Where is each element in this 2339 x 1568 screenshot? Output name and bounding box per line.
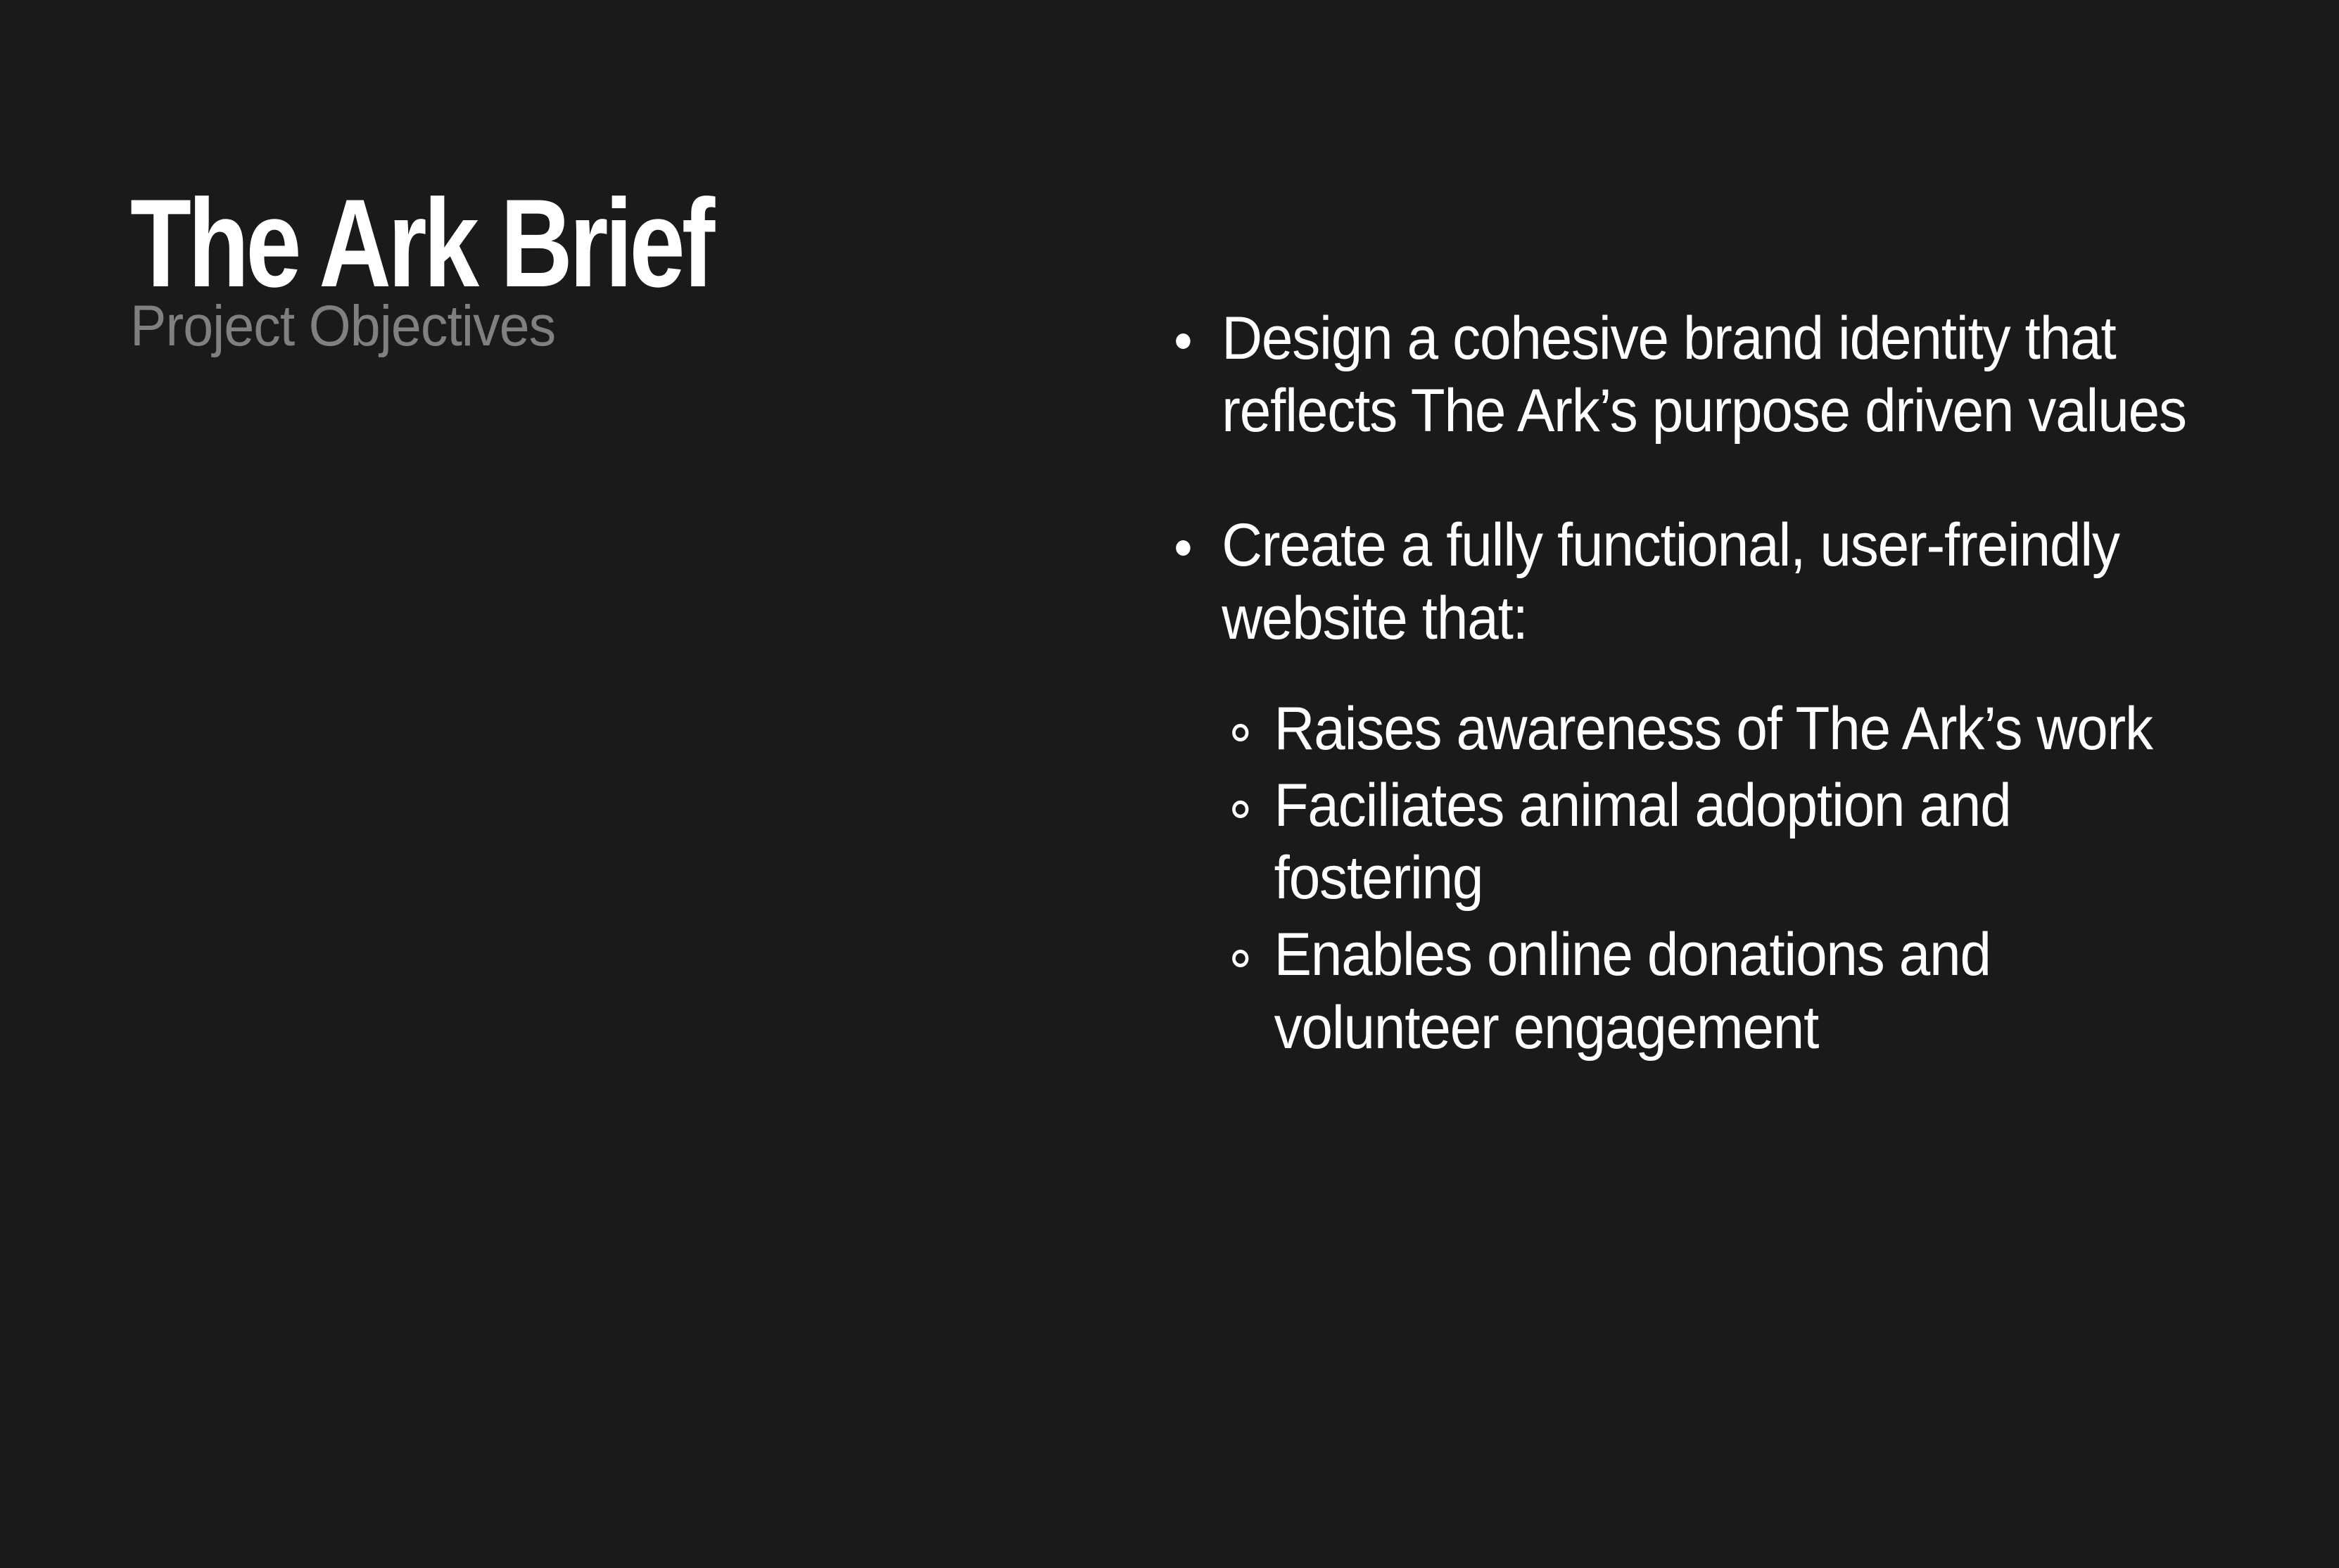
objectives-column: Design a cohesive brand identity that re… — [1168, 302, 2266, 1064]
list-item: Enables online donations and volunteer e… — [1227, 919, 2189, 1064]
list-item: Faciliates animal adoption and fostering — [1227, 770, 2189, 914]
list-item-text: Create a fully functional, user-freindly… — [1222, 511, 2119, 651]
disc-bullet-icon — [1176, 540, 1190, 556]
objectives-list: Design a cohesive brand identity that re… — [1168, 302, 2266, 1064]
section-label: Project Objectives — [130, 298, 555, 355]
list-item-text: Design a cohesive brand identity that re… — [1222, 305, 2186, 445]
list-item-text: Enables online donations and volunteer e… — [1274, 921, 1991, 1061]
list-item: Create a fully functional, user-freindly… — [1168, 509, 2189, 1064]
circle-bullet-icon — [1232, 950, 1248, 967]
circle-bullet-icon — [1232, 724, 1248, 741]
list-item: Design a cohesive brand identity that re… — [1168, 302, 2189, 447]
disc-bullet-icon — [1176, 333, 1190, 349]
left-column: The Ark Brief Project Objectives — [130, 0, 1101, 1568]
website-features-list: Raises awareness of The Ark’s work Facil… — [1222, 693, 2189, 1064]
list-item: Raises awareness of The Ark’s work — [1227, 693, 2189, 765]
page-title: The Ark Brief — [130, 181, 711, 306]
list-item-text: Faciliates animal adoption and fostering — [1274, 772, 2011, 912]
list-item-text: Raises awareness of The Ark’s work — [1274, 695, 2153, 763]
circle-bullet-icon — [1232, 801, 1248, 818]
presentation-slide: The Ark Brief Project Objectives Design … — [0, 0, 2339, 1568]
